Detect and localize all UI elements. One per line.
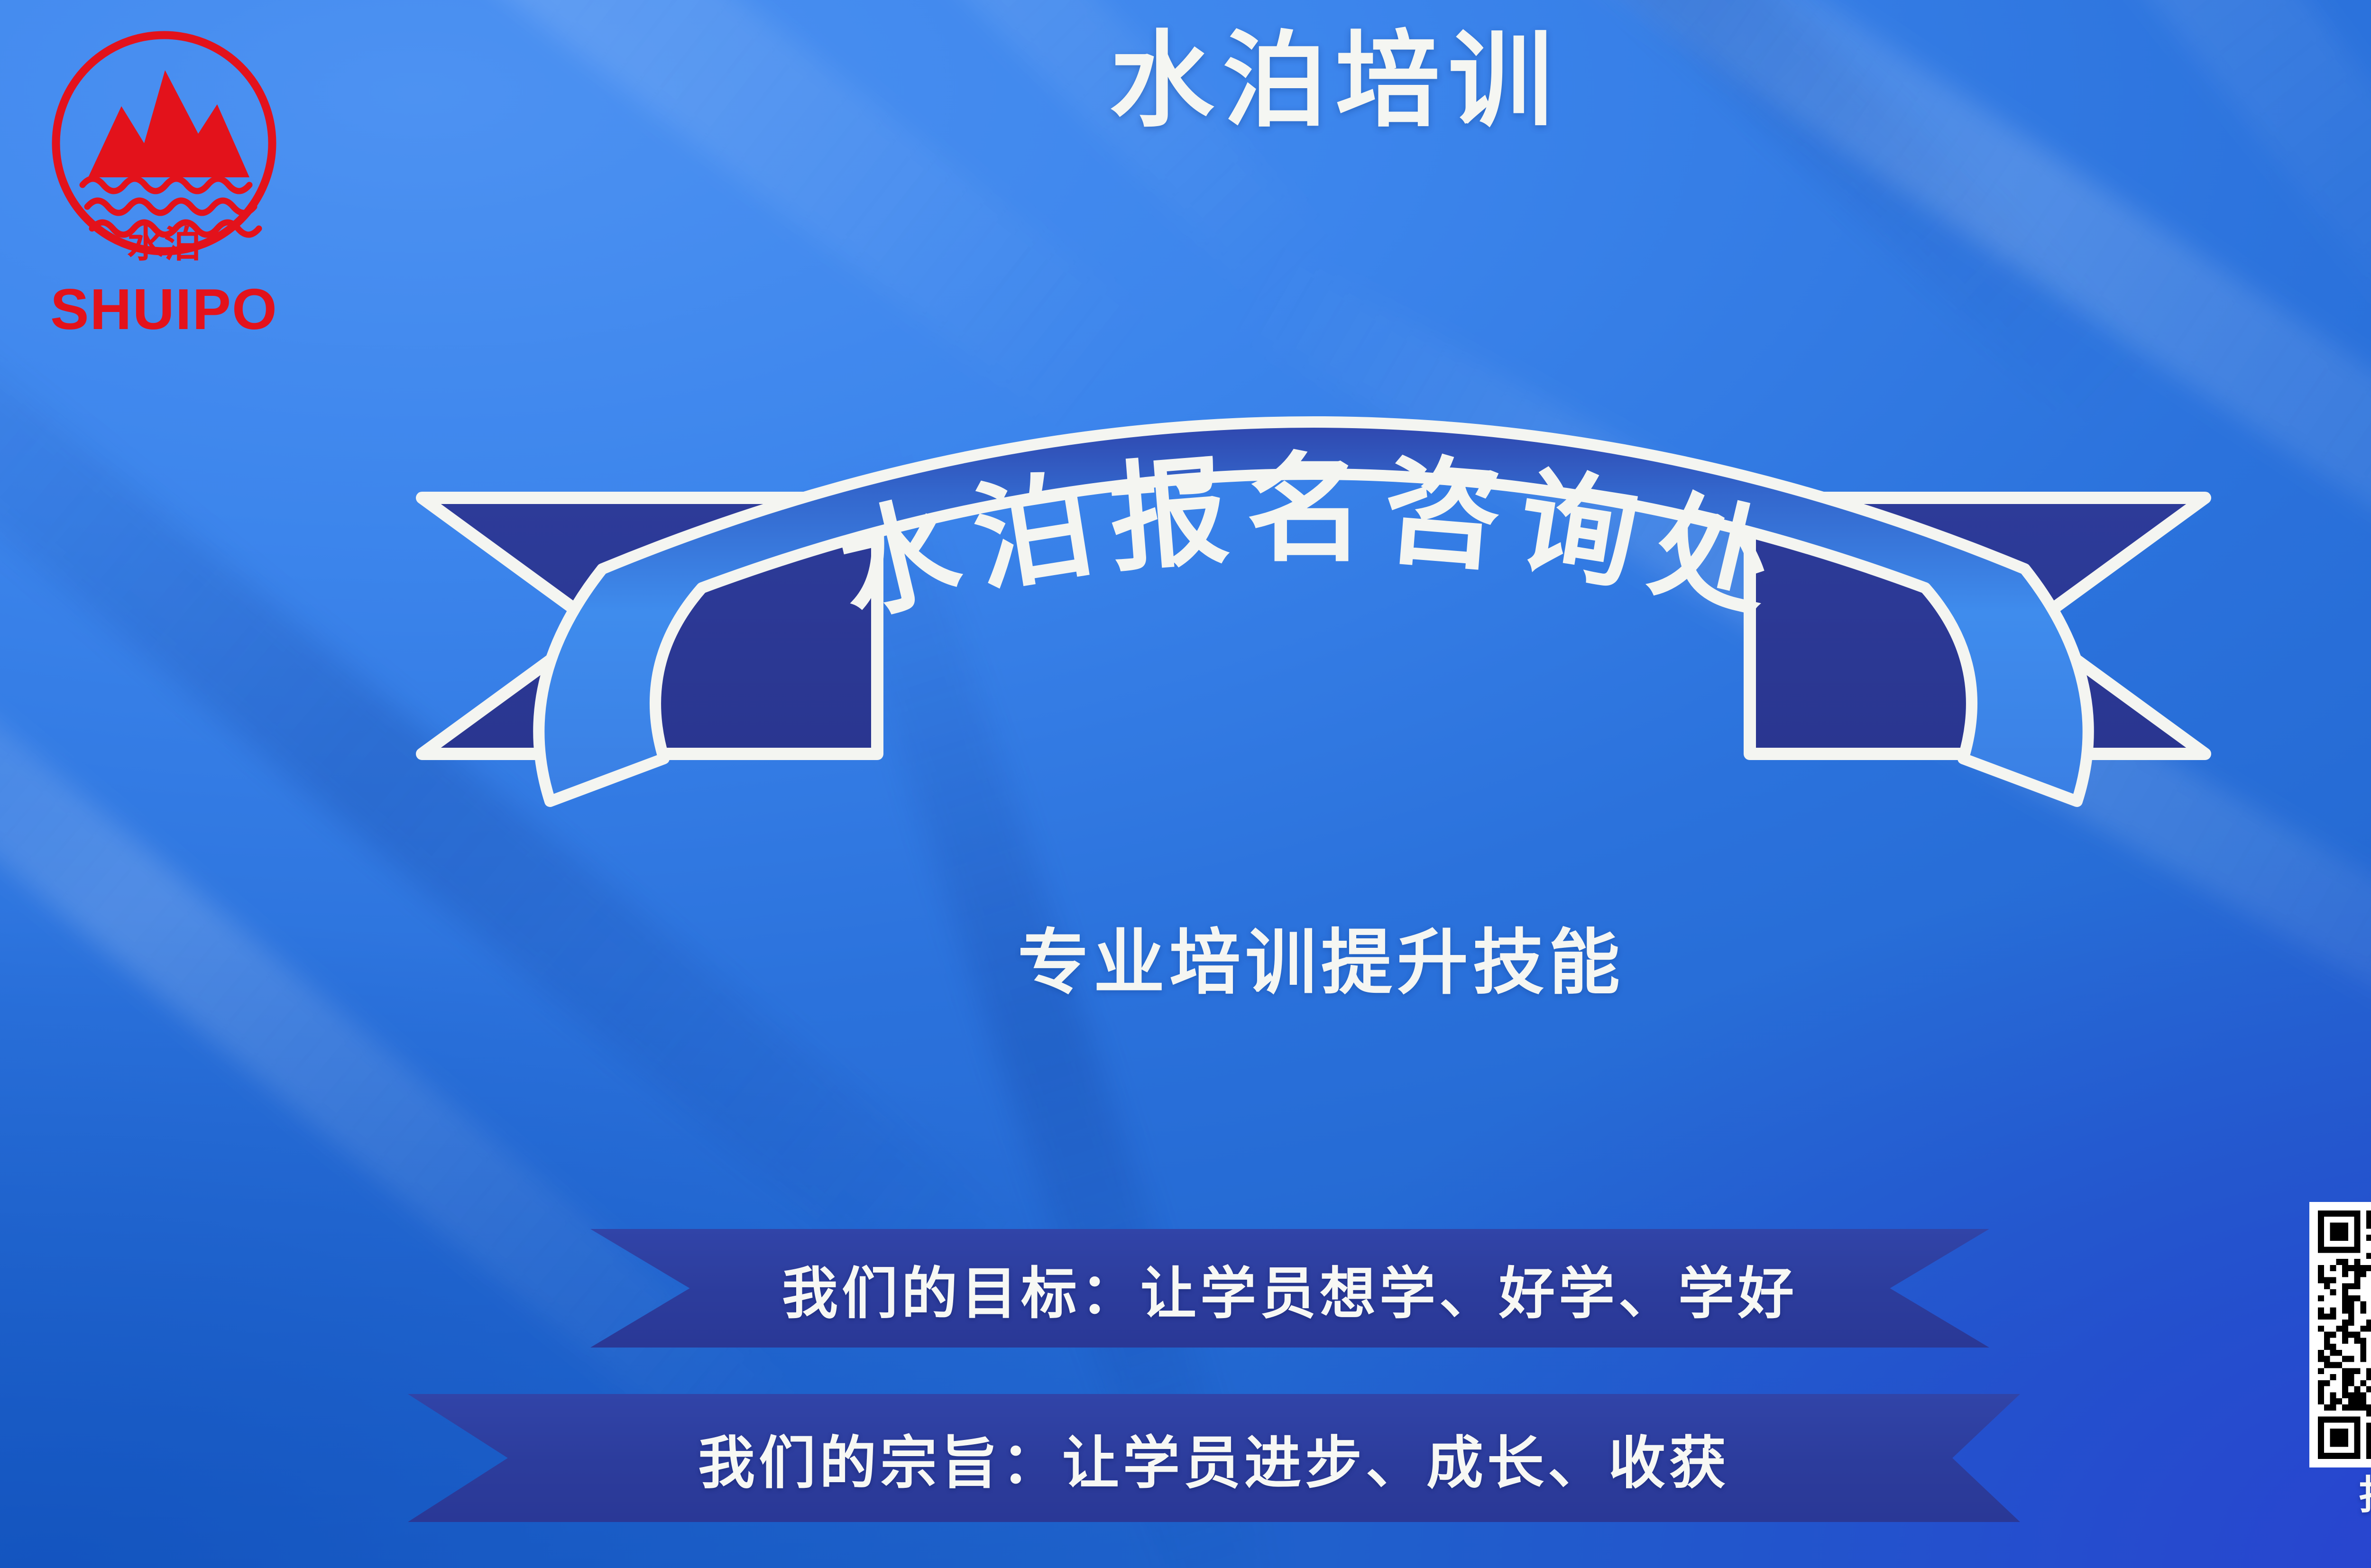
page-subtitle: 专业培训提升技能 — [0, 927, 2371, 998]
poster-canvas: 水泊 SHUIPO 水泊培训 — [0, 0, 2371, 1568]
logo-wordmark: SHUIPO — [50, 277, 278, 341]
goal-banner-label: 我们的目标：让学员想学、好学、学好 — [782, 1248, 1798, 1329]
page-title: 水泊培训 — [0, 28, 2371, 133]
qr-code[interactable] — [2309, 1202, 2371, 1467]
seal-characters: 水泊 — [127, 223, 201, 266]
motto-banner-label: 我们的宗旨：让学员进步、成长、收获 — [698, 1417, 1730, 1499]
arch-ribbon-banner: 水泊报名咨询处 — [394, 427, 2233, 816]
qr-block: 扫码咨询 — [2309, 1202, 2371, 1515]
goal-banner: 我们的目标：让学员想学、好学、学好 — [590, 1229, 1989, 1348]
qr-caption: 扫码咨询 — [2309, 1475, 2371, 1515]
motto-banner: 我们的宗旨：让学员进步、成长、收获 — [408, 1394, 2020, 1522]
